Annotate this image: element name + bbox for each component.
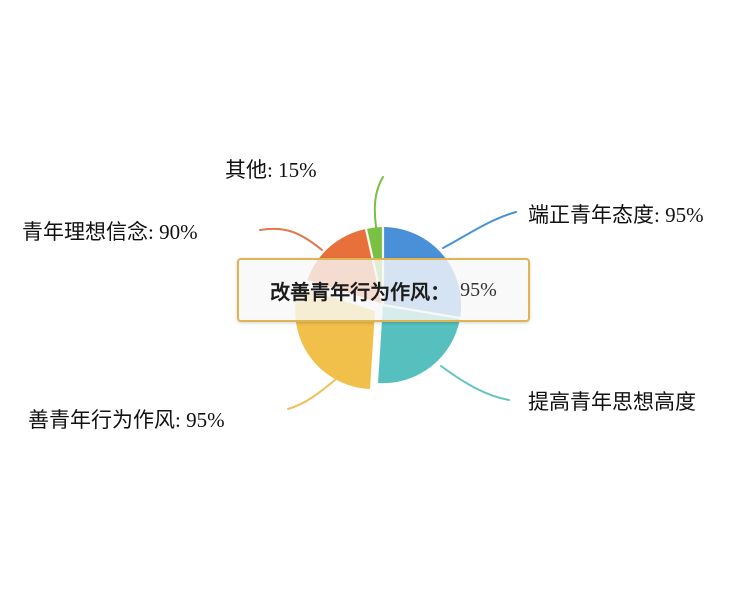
pie-label-ideal: 青年理想信念: 90% (22, 222, 198, 243)
pie-label-conduct: 善青年行为作风: 95% (28, 410, 225, 431)
pie-label-attitude: 端正青年态度: 95% (528, 205, 704, 226)
tooltip-series-value: 95% (460, 279, 497, 302)
leader-line-thought (441, 366, 509, 400)
tooltip-callout: 改善青年行为作风： 95% (237, 258, 530, 322)
pie-label-thought: 提高青年思想高度 (528, 392, 696, 413)
tooltip-series-name: 改善青年行为作风： (270, 276, 450, 305)
leader-line-ideal (260, 229, 322, 250)
leader-line-conduct (288, 380, 335, 409)
chart-canvas: 其他: 15% 青年理想信念: 90% 端正青年态度: 95% 提高青年思想高度… (0, 0, 750, 590)
leader-line-attitude (443, 212, 516, 248)
pie-label-other: 其他: 15% (225, 160, 317, 181)
